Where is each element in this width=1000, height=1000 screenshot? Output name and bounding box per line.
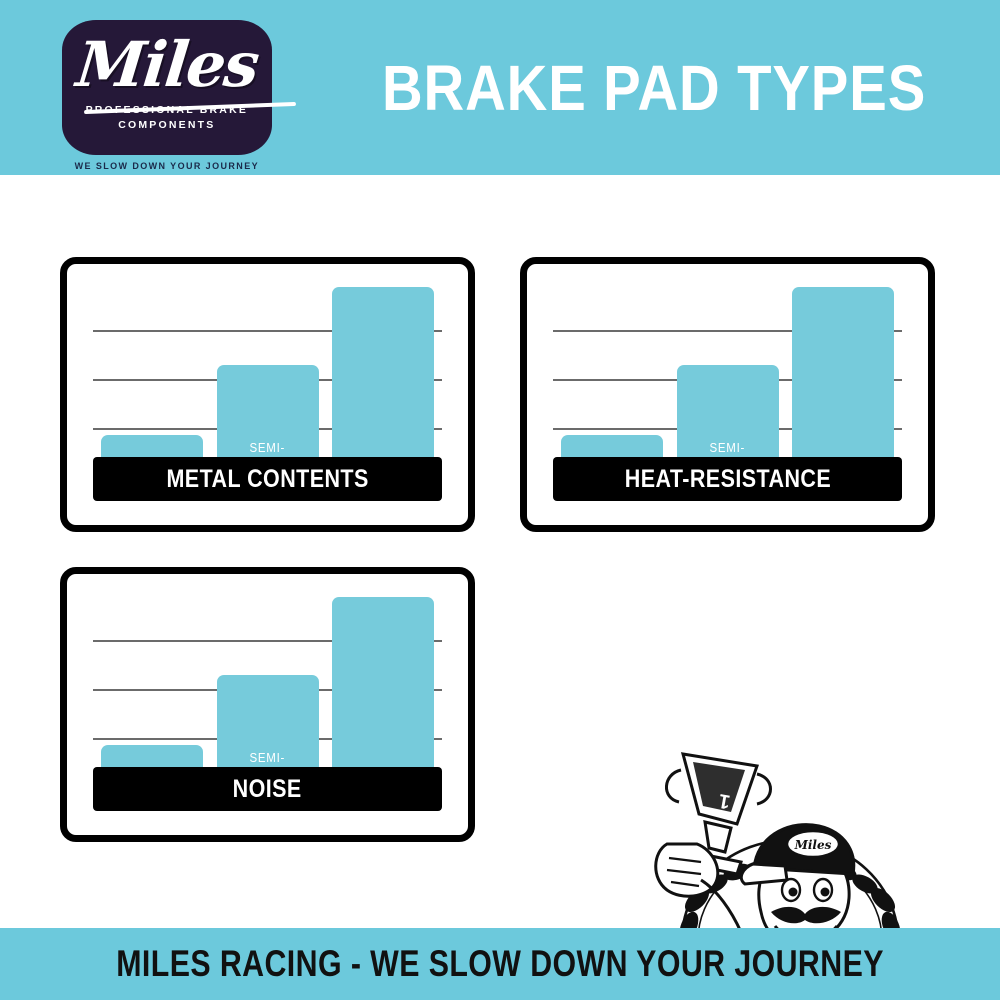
bar-group-metal-contents: ORGANIC SEMI- METALLIC SINTERED [101,272,434,473]
panel-title-banner-heat-resistance: HEAT-RESISTANCE [553,457,902,501]
chart-panel-heat-resistance: ORGANIC SEMI- METALLIC SINTERED HEAT-RES… [520,257,935,532]
bar-sintered: SINTERED [792,287,894,473]
bar-group-heat-resistance: ORGANIC SEMI- METALLIC SINTERED [561,272,894,473]
cap-badge-text: Miles [794,838,832,852]
mascot-head: Miles [741,825,853,944]
page-title: BRAKE PAD TYPES [382,51,926,125]
panel-title-text: HEAT-RESISTANCE [624,465,830,494]
logo-tagline: WE SLOW DOWN YOUR JOURNEY [62,161,272,171]
plot-area-metal-contents: ORGANIC SEMI- METALLIC SINTERED METAL CO… [67,264,468,525]
logo-wordmark: Miles [74,34,261,96]
charts-area: ORGANIC SEMI- METALLIC SINTERED METAL CO… [0,175,1000,928]
panel-title-text: NOISE [233,775,302,804]
chart-panel-noise: ORGANIC SEMI- METALLIC SINTERED NOISE [60,567,475,842]
footer-banner: MILES RACING - WE SLOW DOWN YOUR JOURNEY [0,928,1000,1000]
plot-area-heat-resistance: ORGANIC SEMI- METALLIC SINTERED HEAT-RES… [527,264,928,525]
plot-area-noise: ORGANIC SEMI- METALLIC SINTERED NOISE [67,574,468,835]
logo-subtitle-line2: COMPONENTS [62,119,272,131]
bar-sintered: SINTERED [332,597,434,783]
panel-title-text: METAL CONTENTS [166,465,368,494]
infographic-page: Miles PROFESSIONAL BRAKE COMPONENTS WE S… [0,0,1000,1000]
miles-logo: Miles PROFESSIONAL BRAKE COMPONENTS WE S… [62,20,272,155]
panel-title-banner-metal-contents: METAL CONTENTS [93,457,442,501]
footer-text: MILES RACING - WE SLOW DOWN YOUR JOURNEY [116,943,884,985]
bar-sintered: SINTERED [332,287,434,473]
header-banner: Miles PROFESSIONAL BRAKE COMPONENTS WE S… [0,0,1000,175]
panel-title-banner-noise: NOISE [93,767,442,811]
chart-panel-metal-contents: ORGANIC SEMI- METALLIC SINTERED METAL CO… [60,257,475,532]
bar-group-noise: ORGANIC SEMI- METALLIC SINTERED [101,582,434,783]
